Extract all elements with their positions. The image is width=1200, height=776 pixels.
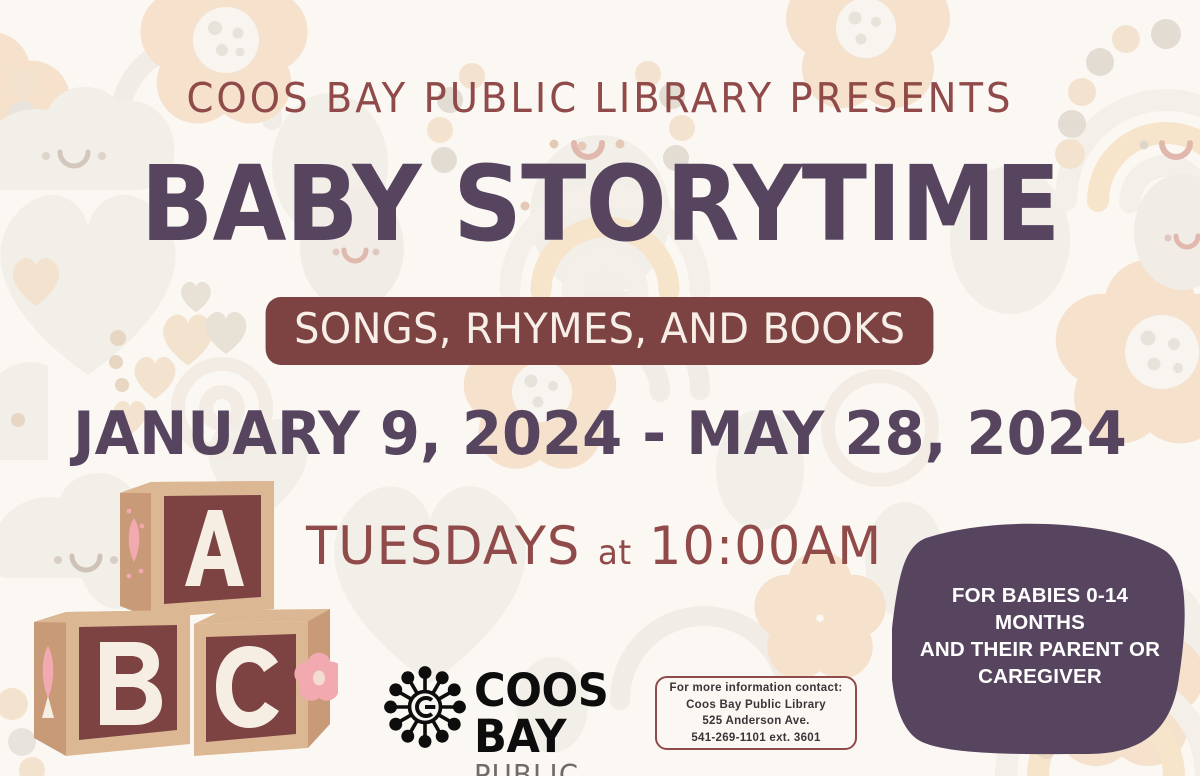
subtitle-banner: SONGS, RHYMES, AND BOOKS [266,297,934,365]
coos-bay-library-starburst-icon [382,664,468,750]
logo-wordmark: COOS BAY PUBLIC LIBRARY [474,668,648,776]
block-a [120,481,274,618]
subtitle-banner-wrap: SONGS, RHYMES, AND BOOKS [0,297,1200,365]
contact-info-box: For more information contact: Coos Bay P… [655,676,857,750]
date-range: JANUARY 9, 2024 - MAY 28, 2024 [24,402,1176,466]
day-label: TUESDAYS [306,516,581,577]
contact-line-4: 541-269-1101 ext. 3601 [691,730,820,747]
at-word: at [598,533,632,573]
block-c [194,609,338,756]
contact-line-2: Coos Bay Public Library [686,697,826,714]
contact-line-3: 525 Anderson Ave. [702,713,809,730]
badge-line-1: FOR BABIES 0-14 [952,582,1128,609]
page-title: BABY STORYTIME [48,152,1152,256]
audience-badge: FOR BABIES 0-14 MONTHS AND THEIR PARENT … [892,516,1188,756]
contact-line-1: For more information contact: [670,680,843,697]
logo-line-1: COOS BAY [474,668,641,760]
coos-bay-library-logo: COOS BAY PUBLIC LIBRARY [382,658,648,754]
block-b [34,610,190,756]
audience-badge-text: FOR BABIES 0-14 MONTHS AND THEIR PARENT … [892,516,1188,756]
badge-line-4: CAREGIVER [978,663,1102,690]
time-label: 10:00AM [649,516,882,577]
poster-canvas: COOS BAY PUBLIC LIBRARY PRESENTS BABY ST… [0,0,1200,776]
logo-line-2: PUBLIC LIBRARY [474,760,641,776]
day-and-time: TUESDAYS at 10:00AM [306,518,882,582]
badge-line-2: MONTHS [995,609,1085,636]
badge-line-3: AND THEIR PARENT OR [920,636,1160,663]
abc-blocks-svg [8,466,338,776]
presents-line: COOS BAY PUBLIC LIBRARY PRESENTS [36,74,1164,122]
abc-blocks-illustration [8,466,338,776]
